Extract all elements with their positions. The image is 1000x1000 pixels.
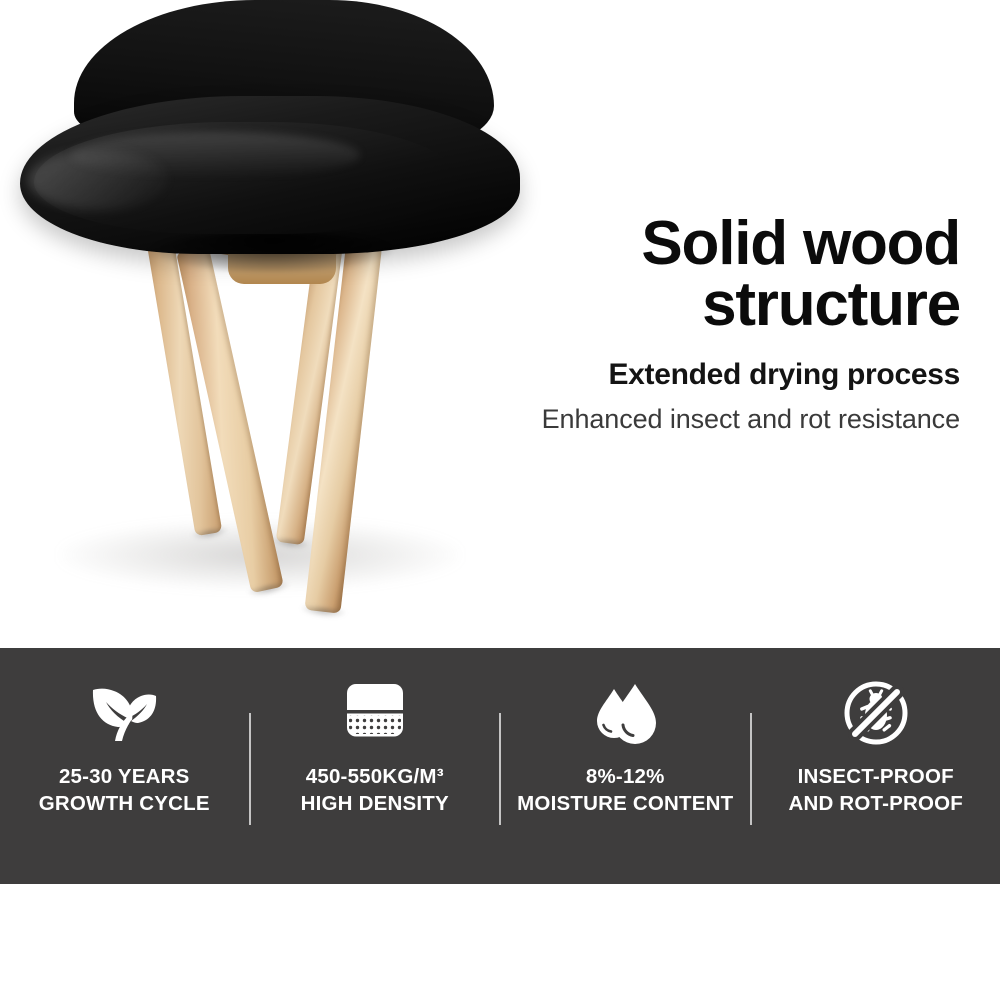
product-photo-area: Solid wood structure Extended drying pro…: [0, 0, 1000, 648]
headline-line-1: Solid wood: [440, 214, 960, 275]
feature-label: 450-550KG/M³ HIGH DENSITY: [301, 764, 449, 817]
feature-line-1: 8%-12%: [586, 765, 665, 788]
feature-high-density: 450-550KG/M³ HIGH DENSITY: [251, 666, 500, 866]
seat-underside-shadow: [152, 232, 392, 272]
feature-moisture-content: 8%-12% MOISTURE CONTENT: [501, 666, 750, 866]
headline-line-2: structure: [440, 275, 960, 336]
tagline: Enhanced insect and rot resistance: [440, 404, 960, 435]
feature-bar: 25-30 YEARS GROWTH CYCLE: [0, 648, 1000, 884]
feature-line-2: MOISTURE CONTENT: [517, 791, 733, 818]
feature-insect-proof: INSECT-PROOF AND ROT-PROOF: [752, 666, 1000, 866]
feature-line-2: HIGH DENSITY: [301, 791, 449, 818]
feature-line-2: AND ROT-PROOF: [788, 791, 963, 818]
feature-line-1: 450-550KG/M³: [306, 765, 444, 788]
headline-block: Solid wood structure Extended drying pro…: [440, 214, 960, 435]
feature-label: 8%-12% MOISTURE CONTENT: [517, 764, 733, 817]
subheadline: Extended drying process: [440, 358, 960, 392]
feature-line-1: INSECT-PROOF: [798, 765, 954, 788]
feature-label: 25-30 YEARS GROWTH CYCLE: [39, 764, 210, 817]
feature-growth-cycle: 25-30 YEARS GROWTH CYCLE: [0, 666, 249, 866]
product-feature-banner: Solid wood structure Extended drying pro…: [0, 0, 1000, 1000]
water-droplets-icon: [590, 676, 660, 750]
feature-label: INSECT-PROOF AND ROT-PROOF: [788, 764, 963, 817]
density-block-icon: [340, 676, 410, 750]
feature-line-2: GROWTH CYCLE: [39, 791, 210, 818]
leaf-icon: [88, 676, 160, 750]
feature-line-1: 25-30 YEARS: [59, 765, 190, 788]
seat-rim-highlight: [28, 150, 168, 210]
no-insect-icon: [842, 676, 910, 750]
